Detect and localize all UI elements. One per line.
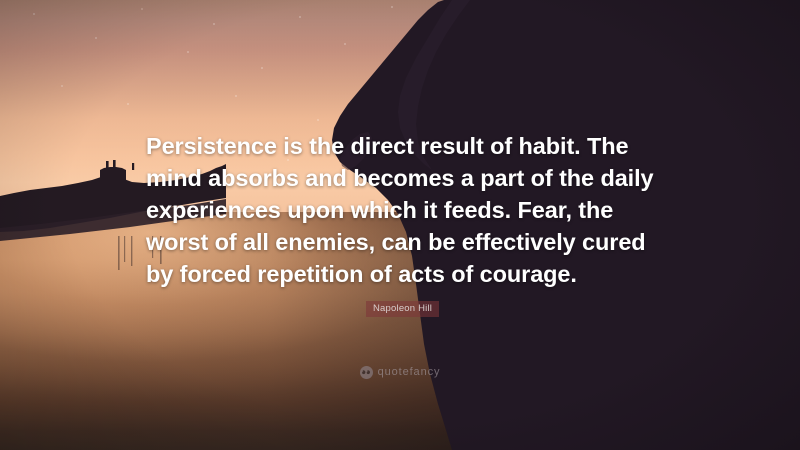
poster-content: Persistence is the direct result of habi… [0, 0, 800, 450]
author-attribution: Napoleon Hill [366, 301, 439, 317]
watermark-label: quotefancy [378, 366, 441, 379]
quote-mark-logo-icon [360, 366, 373, 379]
quote-poster: Persistence is the direct result of habi… [0, 0, 800, 450]
watermark: quotefancy [0, 366, 800, 379]
quote-text: Persistence is the direct result of habi… [146, 130, 658, 290]
